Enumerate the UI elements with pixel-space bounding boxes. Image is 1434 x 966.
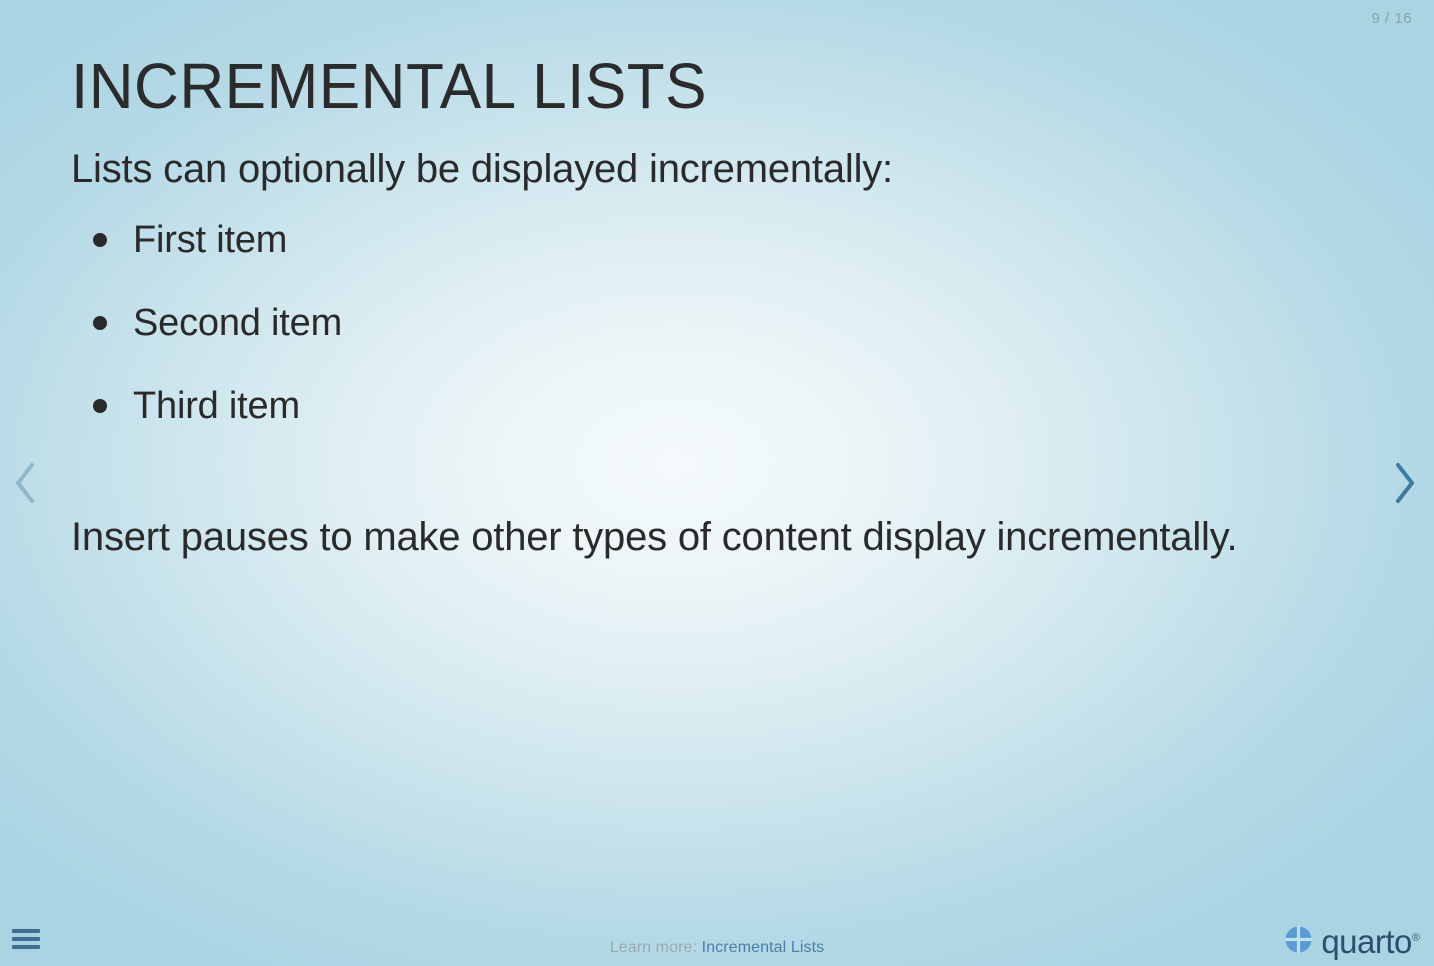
chevron-left-icon <box>12 461 38 505</box>
slide-content: Incremental Lists Lists can optionally b… <box>71 52 1361 564</box>
page-title: Incremental Lists <box>71 52 1322 121</box>
quarto-circle-icon <box>1285 926 1312 958</box>
footer-note: Learn more: Incremental Lists <box>0 939 1434 957</box>
list-item-label: Second item <box>133 302 342 344</box>
bullet-icon <box>93 233 107 247</box>
menu-bar <box>12 929 40 933</box>
nav-prev-button[interactable] <box>2 452 48 514</box>
list-item: Second item <box>85 304 1361 342</box>
footer-note-prefix: Learn more: <box>610 939 702 956</box>
slide-lead-text: Lists can optionally be displayed increm… <box>71 143 1361 195</box>
slide-footer: Learn more: Incremental Lists quarto® <box>0 910 1434 966</box>
quarto-wordmark: quarto® <box>1321 925 1420 958</box>
quarto-logo[interactable]: quarto® <box>1285 925 1420 958</box>
slide-counter: 9 / 16 <box>1371 10 1412 27</box>
nav-next-button[interactable] <box>1382 452 1428 514</box>
list-item: Third item <box>85 387 1361 425</box>
incremental-list: First item Second item Third item <box>85 221 1361 425</box>
footer-learn-more-link[interactable]: Incremental Lists <box>702 939 825 956</box>
chevron-right-icon <box>1392 461 1418 505</box>
slide-body-paragraph: Insert pauses to make other types of con… <box>71 511 1291 564</box>
slide-surface: 9 / 16 Incremental Lists Lists can optio… <box>0 0 1434 966</box>
registered-mark: ® <box>1412 932 1420 944</box>
list-item-label: Third item <box>133 385 300 427</box>
bullet-icon <box>93 399 107 413</box>
quarto-wordmark-text: quarto <box>1321 923 1412 960</box>
list-item-label: First item <box>133 219 287 261</box>
list-item: First item <box>85 221 1361 259</box>
bullet-icon <box>93 316 107 330</box>
